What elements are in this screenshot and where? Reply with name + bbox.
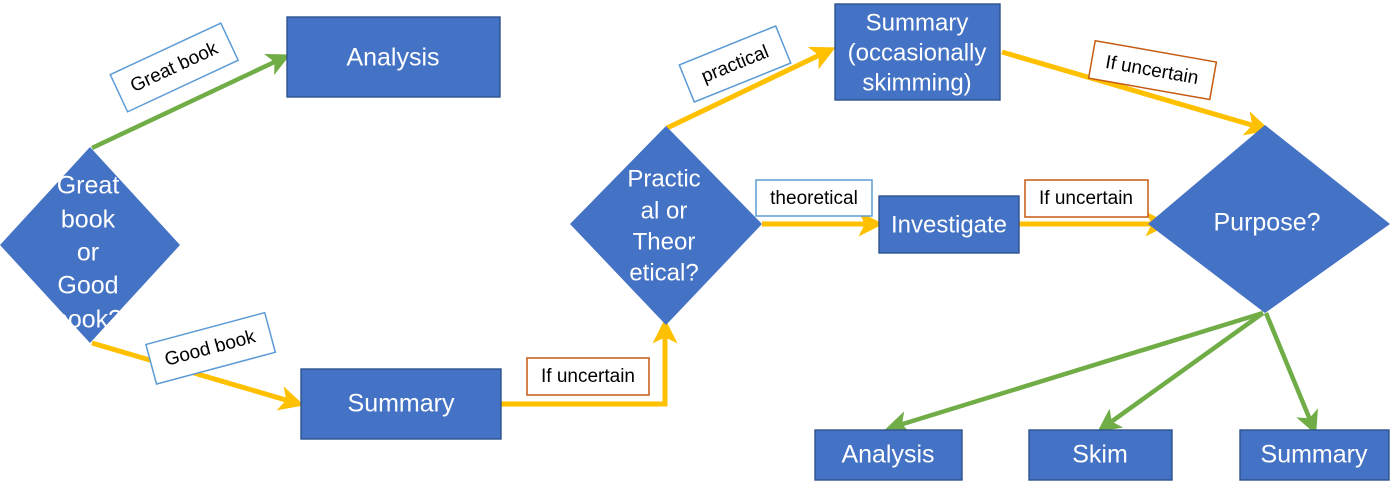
edge-label-text: If uncertain [541,366,635,387]
edge-purpose-to-skim [1104,313,1263,427]
node-practical-or-theoretical[interactable]: Practic al or Theor etical? [570,126,762,325]
node-summary-occasionally-skimming[interactable]: Summary (occasionally skimming) [835,4,1000,100]
node-label-line: (occasionally [848,39,987,66]
edge-label-practical: practical [679,26,790,102]
edge-label-if-uncertain-top: If uncertain [1089,41,1217,100]
node-investigate[interactable]: Investigate [879,196,1019,253]
node-label: Analysis [346,44,439,72]
node-label-line: Summary [866,9,969,36]
node-label-line: skimming) [862,69,971,96]
node-label-line: Great [57,172,120,200]
node-purpose[interactable]: Purpose? [1148,125,1390,313]
edge-label-if-uncertain-investigate: If uncertain [1025,180,1148,217]
flowchart-canvas: Great book or Good book? Analysis Summar… [0,0,1390,491]
edge-label-text: If uncertain [1039,188,1133,209]
edge-label-great-book: Great book [110,23,238,112]
edge-purpose-to-summary [1266,313,1313,427]
node-label: Summary [1261,441,1368,469]
node-summary-bottom[interactable]: Summary [1240,430,1389,480]
node-label-line: book [61,206,116,234]
edge-label-good-book: Good book [146,313,275,384]
edge-label-text: theoretical [770,188,858,209]
edge-label-if-uncertain-summary: If uncertain [527,358,649,395]
node-label-line: Theor [633,228,696,255]
node-label-line: Practic [627,165,700,192]
flowchart-svg: Great book or Good book? Analysis Summar… [0,0,1390,491]
node-skim[interactable]: Skim [1029,430,1172,480]
edge-label-theoretical: theoretical [756,180,872,216]
node-label: Analysis [841,441,934,469]
node-label: Summary [348,390,455,418]
edge-purpose-to-analysis [893,313,1263,427]
node-label-line: Good [57,272,118,300]
node-summary-left[interactable]: Summary [301,369,501,439]
node-label: Purpose? [1213,209,1320,237]
node-great-or-good-book[interactable]: Great book or Good book? [0,147,180,343]
node-label: Skim [1072,441,1128,469]
node-label-line: or [77,239,99,267]
node-analysis-top[interactable]: Analysis [287,17,500,97]
node-label-line: etical? [629,259,698,286]
node-label-line: al or [641,197,688,224]
node-analysis-bottom[interactable]: Analysis [815,430,962,480]
node-label: Investigate [891,211,1007,238]
node-label-line: book? [54,306,122,334]
